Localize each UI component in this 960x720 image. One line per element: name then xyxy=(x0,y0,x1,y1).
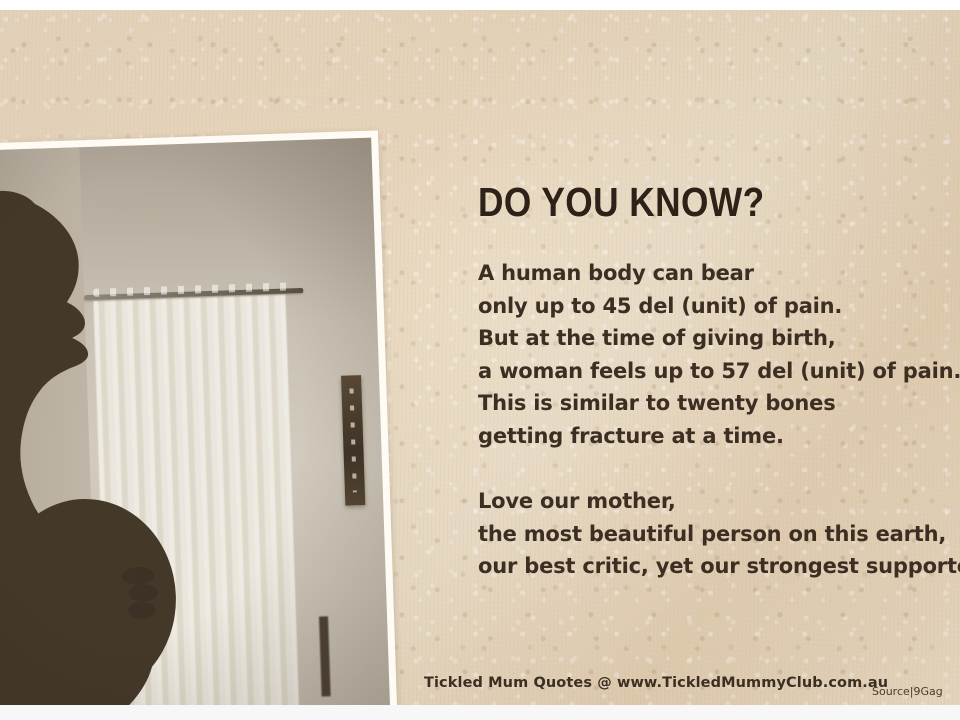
paragraph-line: This is similar to twenty bones xyxy=(478,387,938,420)
photo-image xyxy=(0,138,391,720)
bottom-white-strip xyxy=(0,705,960,720)
paragraph-line: the most beautiful person on this earth, xyxy=(478,518,938,551)
text-column: DO YOU KNOW? A human body can bear only … xyxy=(478,182,938,583)
pregnant-woman-silhouette-icon xyxy=(0,160,254,720)
poster-canvas: DO YOU KNOW? A human body can bear only … xyxy=(0,0,960,720)
paragraph-line: But at the time of giving birth, xyxy=(478,322,938,355)
photo-frame xyxy=(0,130,398,720)
footer-credit: Tickled Mum Quotes @ www.TickledMummyClu… xyxy=(424,675,888,691)
photo-wall-picture-frame xyxy=(341,375,365,506)
paragraph-line: getting fracture at a time. xyxy=(478,420,938,453)
page-title: DO YOU KNOW? xyxy=(478,182,874,223)
paragraph-line: only up to 45 del (unit) of pain. xyxy=(478,290,938,323)
paragraph-line: Love our mother, xyxy=(478,485,938,518)
paragraph-pain-facts: A human body can bear only up to 45 del … xyxy=(478,257,938,452)
paragraph-line: A human body can bear xyxy=(478,257,938,290)
top-white-strip xyxy=(0,0,960,10)
paragraph-line: our best critic, yet our strongest suppo… xyxy=(478,550,938,583)
source-badge: Source|9Gag xyxy=(872,685,943,698)
photo-floor-object xyxy=(319,617,331,697)
paragraph-line: a woman feels up to 57 del (unit) of pai… xyxy=(478,355,938,388)
paragraph-love-mother: Love our mother, the most beautiful pers… xyxy=(478,485,938,583)
